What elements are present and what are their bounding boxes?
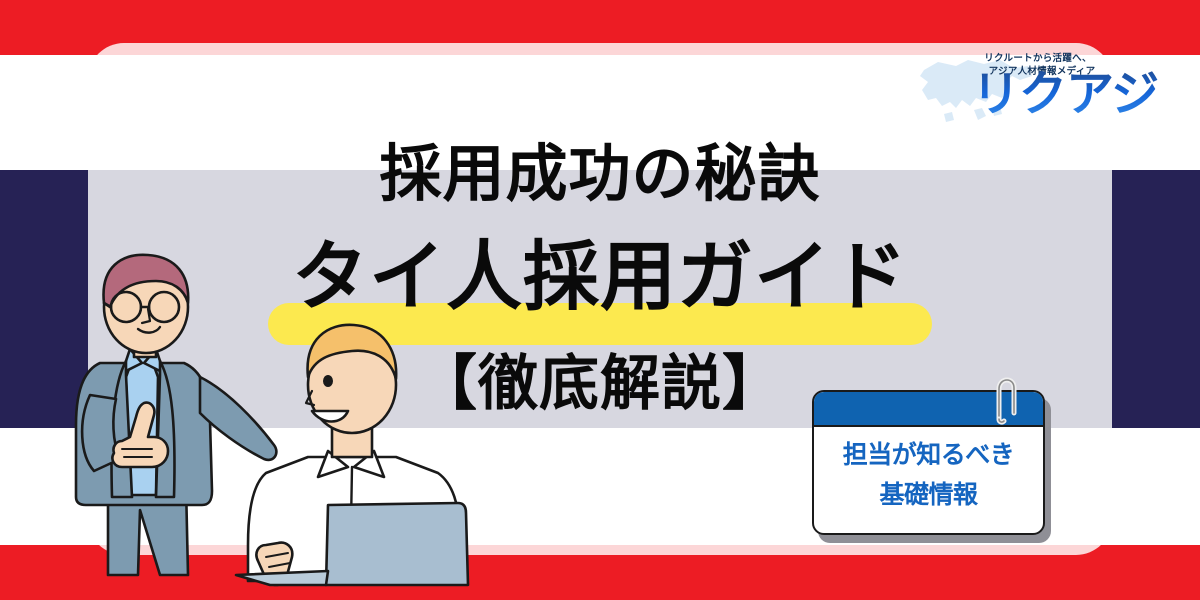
site-logo[interactable]: リクルートから活躍へ、 アジア人材情報メディア リクアジ <box>916 44 1106 130</box>
paperclip-icon <box>992 377 1018 425</box>
note-card-line-2: 基礎情報 <box>814 475 1043 511</box>
note-card: 担当が知るべき 基礎情報 <box>812 390 1045 535</box>
logo-tagline-line1: リクルートから活躍へ、 <box>970 50 1106 64</box>
logo-wordmark: リクアジ <box>972 71 1158 119</box>
banner-canvas: リクルートから活躍へ、 アジア人材情報メディア リクアジ 採用成功の秘訣 タイ人… <box>0 0 1200 600</box>
note-card-line-1: 担当が知るべき <box>814 435 1043 471</box>
businessmen-illustration <box>60 245 480 600</box>
headline-line-1: 採用成功の秘訣 <box>0 142 1200 207</box>
